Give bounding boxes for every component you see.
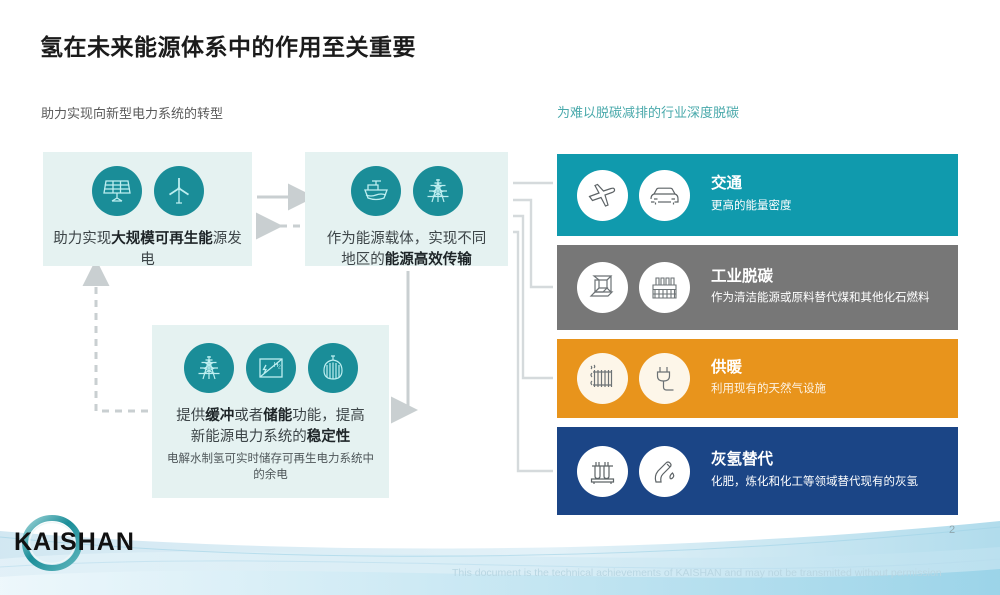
page-title: 氢在未来能源体系中的作用至关重要 bbox=[40, 28, 416, 62]
fuel-nozzle-icon bbox=[639, 446, 690, 497]
card-body: 工业脱碳 作为清洁能源或原料替代煤和其他化石燃料 bbox=[711, 268, 930, 307]
card-heading: 供暖 bbox=[711, 359, 826, 378]
flow-box-text: 提供缓冲或者储能功能，提高新能源电力系统的稳定性 bbox=[152, 406, 389, 447]
icon-group: H 2 bbox=[152, 343, 389, 393]
cargo-ship-icon bbox=[351, 166, 401, 216]
solar-panel-icon bbox=[92, 166, 142, 216]
footer-wave-decoration bbox=[0, 507, 1000, 595]
card-heading: 工业脱碳 bbox=[711, 268, 930, 287]
card-heading: 灰氢替代 bbox=[711, 451, 918, 470]
slide-canvas: 氢在未来能源体系中的作用至关重要 助力实现向新型电力系统的转型 为难以脱碳减排的… bbox=[0, 0, 1000, 595]
card-body: 交通 更高的能量密度 bbox=[711, 175, 792, 214]
flow-box-buffer-storage[interactable]: H 2 提供缓冲或者储能功能，提高新能源电力系统的稳定性 电解水制氢可实时储存可… bbox=[152, 325, 389, 498]
test-tube-rack-icon bbox=[577, 446, 628, 497]
storage-tank-icon bbox=[308, 343, 358, 393]
flow-box-subtext: 电解水制氢可实时储存可再生电力系统中的余电 bbox=[152, 452, 389, 484]
sector-card-heating[interactable]: 供暖 利用现有的天然气设施 bbox=[557, 339, 958, 418]
electrolyzer-h2-icon: H 2 bbox=[246, 343, 296, 393]
page-number: 2 bbox=[949, 524, 955, 536]
wind-turbine-icon bbox=[154, 166, 204, 216]
flow-box-energy-carrier[interactable]: 作为能源载体，实现不同地区的能源高效传输 bbox=[305, 152, 508, 266]
card-description: 更高的能量密度 bbox=[711, 198, 792, 215]
car-icon bbox=[639, 170, 690, 221]
subtitle-right: 为难以脱碳减排的行业深度脱碳 bbox=[557, 102, 739, 121]
sector-card-grey-hydrogen-replacement[interactable]: 灰氢替代 化肥，炼化和化工等领域替代现有的灰氢 bbox=[557, 427, 958, 515]
icon-group bbox=[43, 166, 252, 216]
flow-box-text: 助力实现大规模可再生能源发电 bbox=[43, 229, 252, 270]
svg-text:2: 2 bbox=[278, 365, 281, 371]
power-tower-icon bbox=[184, 343, 234, 393]
card-description: 利用现有的天然气设施 bbox=[711, 381, 826, 398]
sector-card-transport[interactable]: 交通 更高的能量密度 bbox=[557, 154, 958, 236]
card-description: 作为清洁能源或原料替代煤和其他化石燃料 bbox=[711, 290, 930, 307]
power-tower-icon bbox=[413, 166, 463, 216]
subtitle-left: 助力实现向新型电力系统的转型 bbox=[41, 103, 223, 122]
card-body: 灰氢替代 化肥，炼化和化工等领域替代现有的灰氢 bbox=[711, 451, 918, 490]
card-description: 化肥，炼化和化工等领域替代现有的灰氢 bbox=[711, 474, 918, 491]
airplane-icon bbox=[577, 170, 628, 221]
radiator-icon bbox=[577, 353, 628, 404]
flow-box-renewable-generation[interactable]: 助力实现大规模可再生能源发电 bbox=[43, 152, 252, 266]
factory-icon bbox=[639, 262, 690, 313]
footer-disclaimer: This document is the technical achieveme… bbox=[452, 567, 942, 579]
steel-beam-icon bbox=[577, 262, 628, 313]
sector-card-industrial-decarbonization[interactable]: 工业脱碳 作为清洁能源或原料替代煤和其他化石燃料 bbox=[557, 245, 958, 330]
flow-box-text: 作为能源载体，实现不同地区的能源高效传输 bbox=[305, 229, 508, 270]
icon-group bbox=[305, 166, 508, 216]
card-body: 供暖 利用现有的天然气设施 bbox=[711, 359, 826, 398]
card-heading: 交通 bbox=[711, 175, 792, 194]
power-plug-icon bbox=[639, 353, 690, 404]
kaishan-logo-text: KAISHAN bbox=[14, 528, 135, 557]
